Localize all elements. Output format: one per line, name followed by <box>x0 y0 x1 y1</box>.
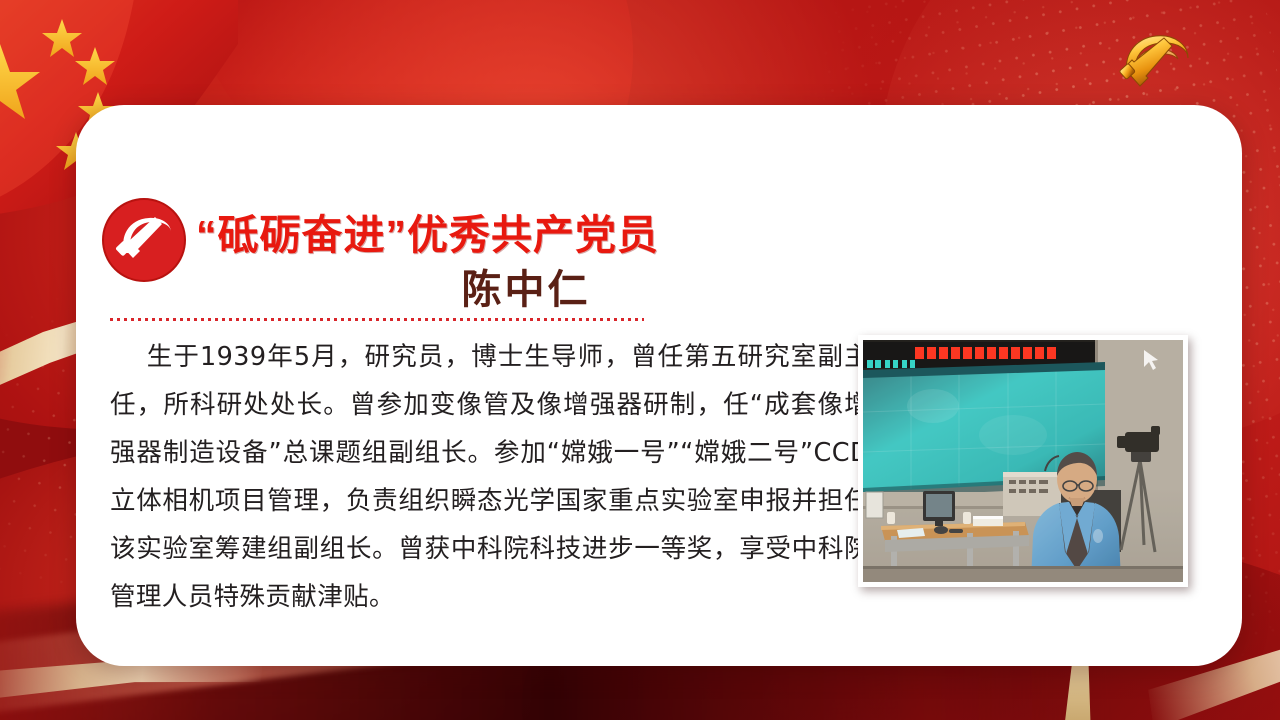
party-emblem-hammer-sickle-gold-icon <box>1108 22 1204 102</box>
biography-text: 生于1939年5月，研究员，博士生导师，曾任第五研究室副主任，所科研处处长。曾参… <box>110 333 870 621</box>
biography-paragraph: 生于1939年5月，研究员，博士生导师，曾任第五研究室副主任，所科研处处长。曾参… <box>110 342 870 612</box>
content-card: “砥砺奋进”优秀共产党员 陈中仁 生于1939年5月，研究员，博士生导师，曾任第… <box>76 105 1242 666</box>
party-emblem-hammer-sickle-circle-icon <box>101 197 187 283</box>
photo-control-room <box>863 340 1183 582</box>
dotted-divider <box>110 318 644 321</box>
person-name: 陈中仁 <box>196 257 856 315</box>
slide-root: “砥砺奋进”优秀共产党员 陈中仁 生于1939年5月，研究员，博士生导师，曾任第… <box>0 0 1280 720</box>
page-title: “砥砺奋进”优秀共产党员 <box>196 201 856 261</box>
photo-frame <box>858 335 1188 587</box>
